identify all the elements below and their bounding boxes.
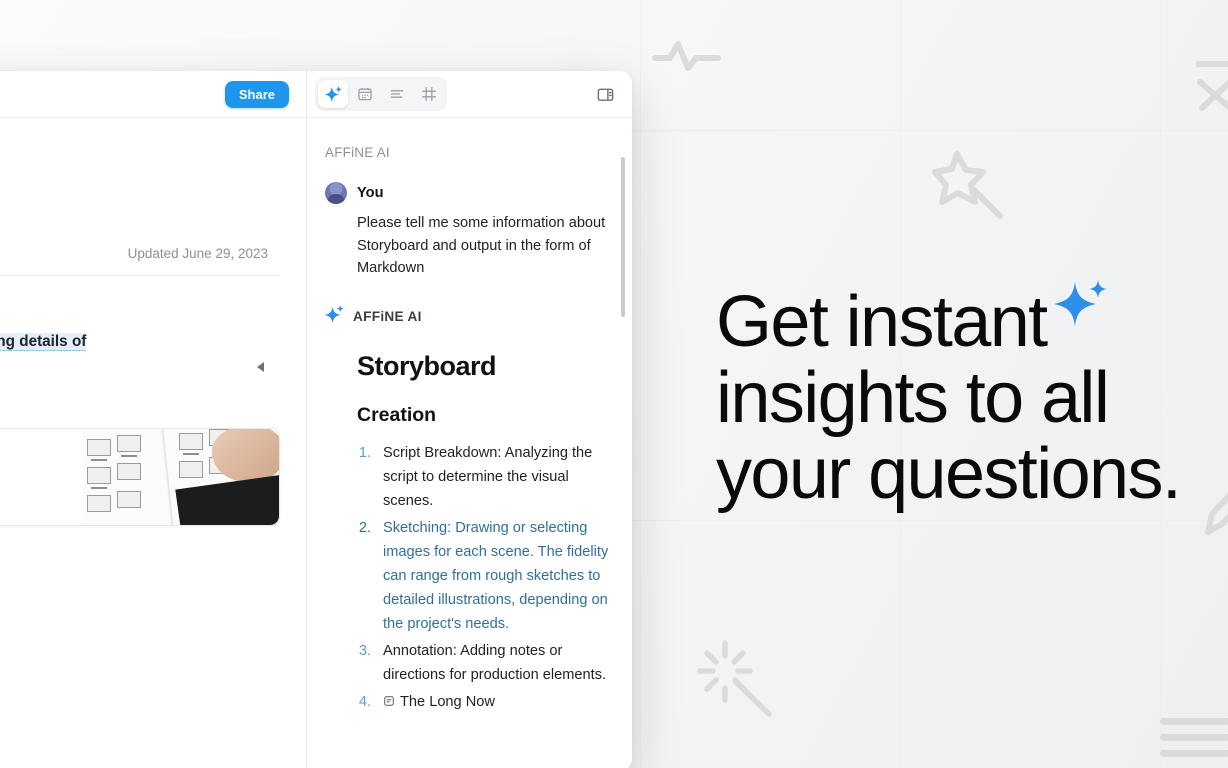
link-card-line-1: grand <box>0 455 69 476</box>
frame-icon[interactable] <box>414 80 444 108</box>
list-item: 2.Sketching: Drawing or selecting images… <box>357 516 614 636</box>
link-card[interactable]: grand striking contr... <box>0 428 280 526</box>
list-item-number: 3. <box>357 639 371 687</box>
grid-line <box>640 0 641 768</box>
right-sidebar-toggle-icon[interactable] <box>590 80 620 108</box>
document-paragraph: esented in the form of sequential panels… <box>0 306 280 402</box>
headline-line-2: insights to all <box>716 360 1216 436</box>
link-card-line-2: striking contr... <box>0 476 69 497</box>
ai-sparkle-icon <box>325 305 344 329</box>
calendar-icon[interactable] <box>350 80 380 108</box>
outline-icon[interactable] <box>382 80 412 108</box>
paragraph-line-3: a blueprint for a project, allowing crea… <box>0 354 280 378</box>
ai-toolbar <box>307 71 632 118</box>
sparkle-burst-wand-icon <box>692 640 776 722</box>
ai-markdown-body: Storyboard Creation 1.Script Breakdown: … <box>325 351 614 714</box>
share-button[interactable]: Share <box>225 81 289 108</box>
user-message-text: Please tell me some information about St… <box>325 212 614 280</box>
list-item-number: 2. <box>357 516 371 636</box>
page-title: Software <box>0 162 280 206</box>
list-item: 3.Annotation: Adding notes or directions… <box>357 639 614 687</box>
marketing-headline: Get instant insights to all your questio… <box>716 272 1216 512</box>
magic-wand-star-icon <box>930 148 1008 222</box>
ai-panel: AFFiNE AI You Please tell me some inform… <box>306 71 632 768</box>
avatar <box>325 182 347 204</box>
text-lines-icon <box>1160 718 1228 766</box>
link-card-text: grand striking contr... <box>0 429 83 525</box>
ai-sparkle-icon[interactable] <box>318 80 348 108</box>
scissors-icon <box>1196 52 1228 116</box>
list-item: 4.The Long Now <box>357 690 614 714</box>
app-window: Share Software Updated June 29, 2023 ese… <box>0 71 632 768</box>
paragraph-line-4: in production. <box>0 378 280 402</box>
document-body[interactable]: Software Updated June 29, 2023 esented i… <box>0 162 306 768</box>
list-item-text: Annotation: Adding notes or directions f… <box>383 639 614 687</box>
paragraph-line-1: esented in the form of sequential panels… <box>0 306 280 330</box>
list-item-text: Script Breakdown: Analyzing the script t… <box>383 441 614 513</box>
headline-line-1: Get instant <box>716 272 1216 360</box>
headline-line-3: your questions. <box>716 436 1216 512</box>
ai-message-author: AFFiNE AI <box>353 309 422 324</box>
list-item-number: 1. <box>357 441 371 513</box>
markdown-heading-1: Storyboard <box>357 351 614 382</box>
message-author: You <box>357 185 383 201</box>
storyboard-sheets-photo <box>83 429 279 525</box>
scrollbar[interactable] <box>621 157 625 317</box>
document-pane: Share Software Updated June 29, 2023 ese… <box>0 71 306 768</box>
toolbar-tab-group <box>315 77 447 111</box>
headline-text-1: Get instant <box>716 282 1047 362</box>
list-item-text[interactable]: The Long Now <box>383 690 614 714</box>
markdown-heading-2: Creation <box>357 404 614 427</box>
ai-message-header: AFFiNE AI <box>325 305 614 329</box>
list-item-text: Sketching: Drawing or selecting images f… <box>383 516 614 636</box>
document-header: Share <box>0 71 306 118</box>
user-message-header: You <box>325 182 614 204</box>
highlighted-text: escribing key scenes or shots, including… <box>0 333 86 351</box>
markdown-ordered-list: 1.Script Breakdown: Analyzing the script… <box>357 441 614 714</box>
list-item: 1.Script Breakdown: Analyzing the script… <box>357 441 614 513</box>
ai-conversation-scroll[interactable]: AFFiNE AI You Please tell me some inform… <box>307 145 632 768</box>
collapse-triangle-icon[interactable] <box>254 360 268 374</box>
sparkle-icon <box>1053 272 1109 348</box>
pulse-line-icon <box>652 34 722 76</box>
ai-section-label: AFFiNE AI <box>325 145 614 160</box>
divider <box>0 275 280 276</box>
updated-timestamp: Updated June 29, 2023 <box>0 246 280 261</box>
page-link-icon <box>383 691 395 703</box>
list-item-number: 4. <box>357 690 371 714</box>
